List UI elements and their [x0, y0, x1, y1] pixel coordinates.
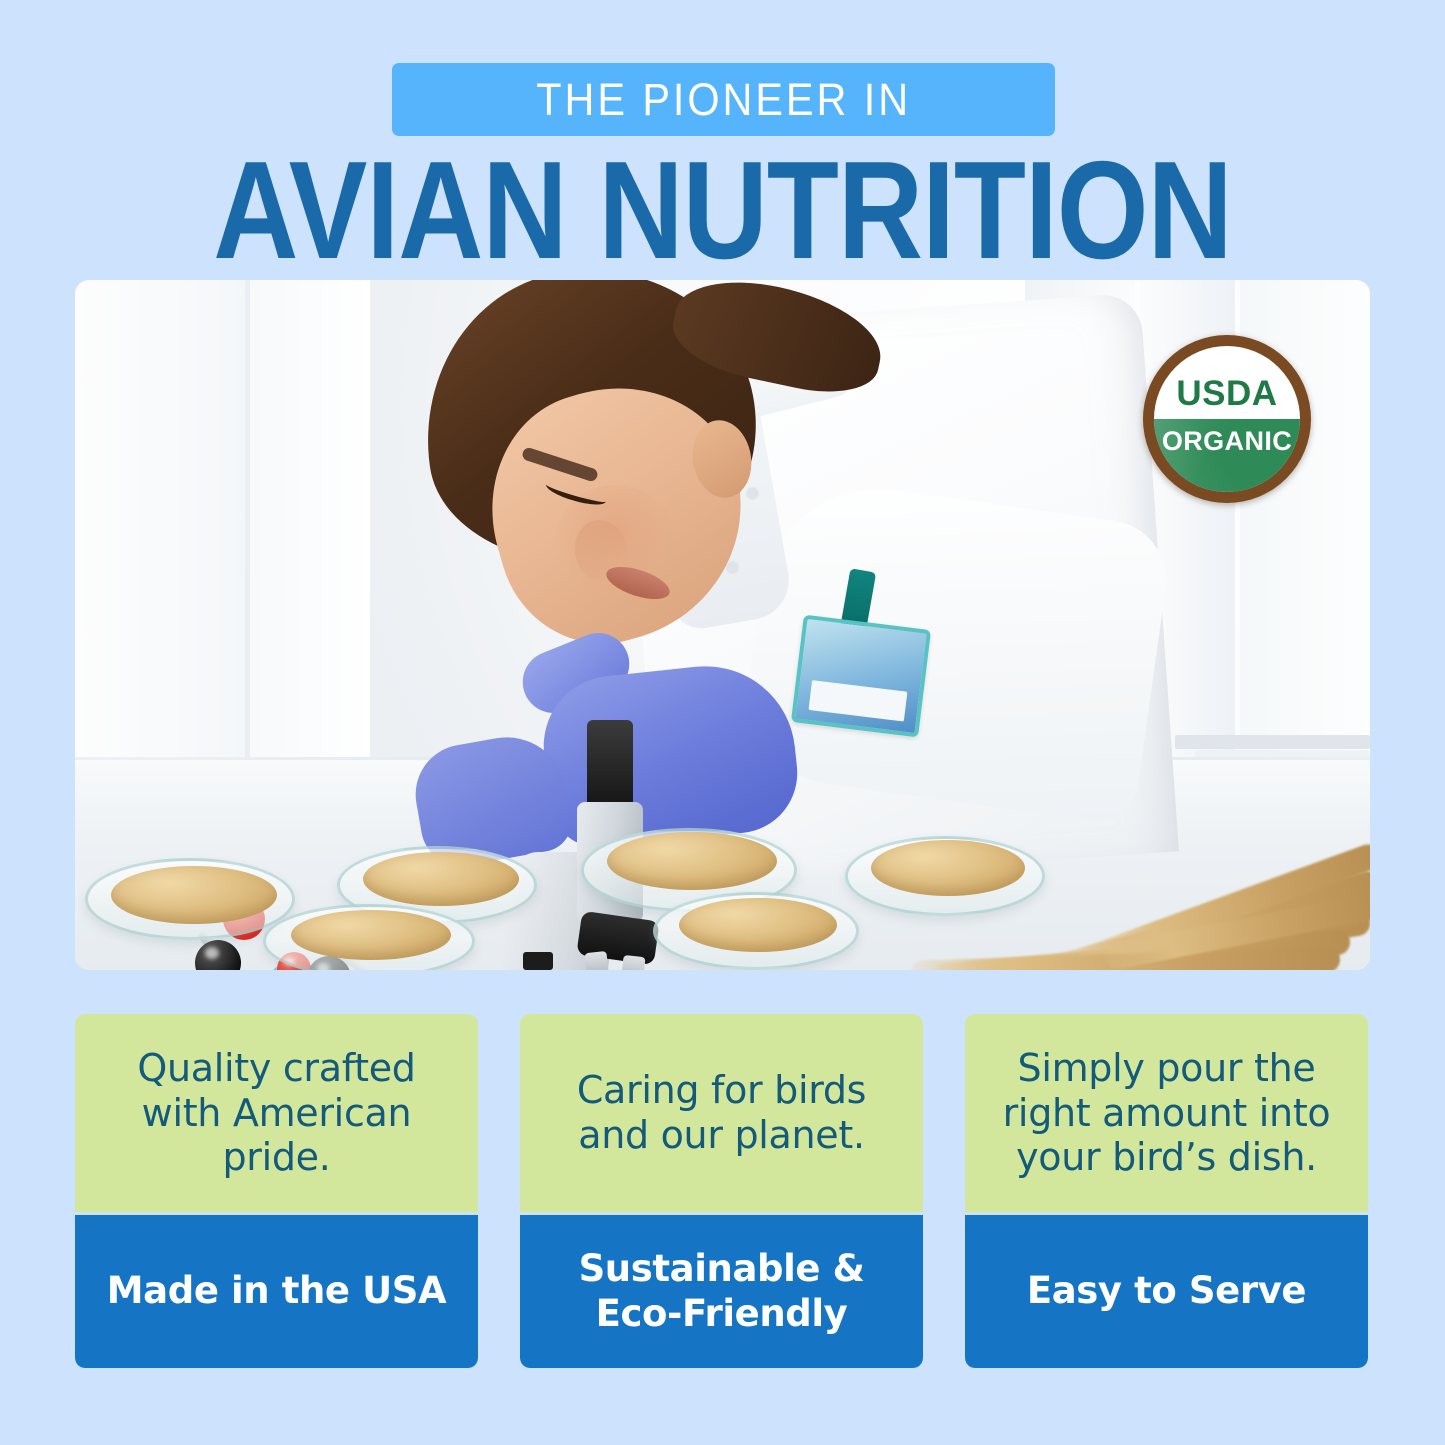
id-badge	[791, 615, 931, 738]
grain-sample	[363, 852, 519, 906]
microscope-objective	[618, 955, 645, 970]
hero-image: USDA ORGANIC	[75, 280, 1370, 970]
seal-usda-text: USDA	[1154, 374, 1300, 414]
feature-card-description-panel: Simply pour the right amount into your b…	[965, 1014, 1368, 1212]
feature-card-label: Easy to Serve	[1027, 1269, 1306, 1313]
grain-sample	[111, 866, 277, 924]
grain-sample	[679, 898, 837, 952]
usda-organic-seal: USDA ORGANIC	[1143, 335, 1311, 503]
page-header: THE PIONEER IN AVIAN NUTRITION	[0, 0, 1445, 272]
microscope-switch	[523, 952, 553, 970]
feature-card-made-in-usa: Quality crafted with American pride. Mad…	[75, 1014, 478, 1368]
feature-card-description: Caring for birds and our planet.	[538, 1068, 905, 1158]
eyebrow-text: THE PIONEER IN	[536, 74, 911, 126]
feature-card-label: Sustainable & Eco-Friendly	[536, 1247, 907, 1336]
eyebrow-banner: THE PIONEER IN	[392, 63, 1055, 136]
grain-sample	[291, 910, 451, 960]
lab-window-panel	[75, 280, 245, 840]
lab-window-panel	[250, 280, 370, 800]
page-title: AVIAN NUTRITION	[0, 140, 1445, 282]
coat-button	[747, 488, 758, 499]
badge-name-strip	[808, 680, 907, 721]
feature-cards: Quality crafted with American pride. Mad…	[75, 1014, 1370, 1368]
feature-card-label-panel: Made in the USA	[75, 1215, 478, 1368]
coat-button	[727, 562, 738, 573]
lab-shelf	[1175, 735, 1370, 749]
feature-card-description-panel: Caring for birds and our planet.	[520, 1014, 923, 1212]
atom-carbon	[195, 940, 241, 970]
feature-card-sustainable-eco-friendly: Caring for birds and our planet. Sustain…	[520, 1014, 923, 1368]
feature-card-description-panel: Quality crafted with American pride.	[75, 1014, 478, 1212]
seal-face: USDA ORGANIC	[1154, 346, 1300, 492]
lab-scene: USDA ORGANIC	[75, 280, 1370, 970]
grain-sample	[607, 832, 777, 890]
feature-card-label: Made in the USA	[107, 1269, 446, 1313]
seal-organic-text: ORGANIC	[1154, 426, 1300, 457]
wheat-stalks	[910, 796, 1370, 970]
feature-card-description: Simply pour the right amount into your b…	[983, 1046, 1350, 1180]
feature-card-easy-to-serve: Simply pour the right amount into your b…	[965, 1014, 1368, 1368]
feature-card-description: Quality crafted with American pride.	[93, 1046, 460, 1180]
feature-card-label-panel: Easy to Serve	[965, 1215, 1368, 1368]
feature-card-label-panel: Sustainable & Eco-Friendly	[520, 1215, 923, 1368]
microscope-eyepiece	[587, 720, 633, 806]
